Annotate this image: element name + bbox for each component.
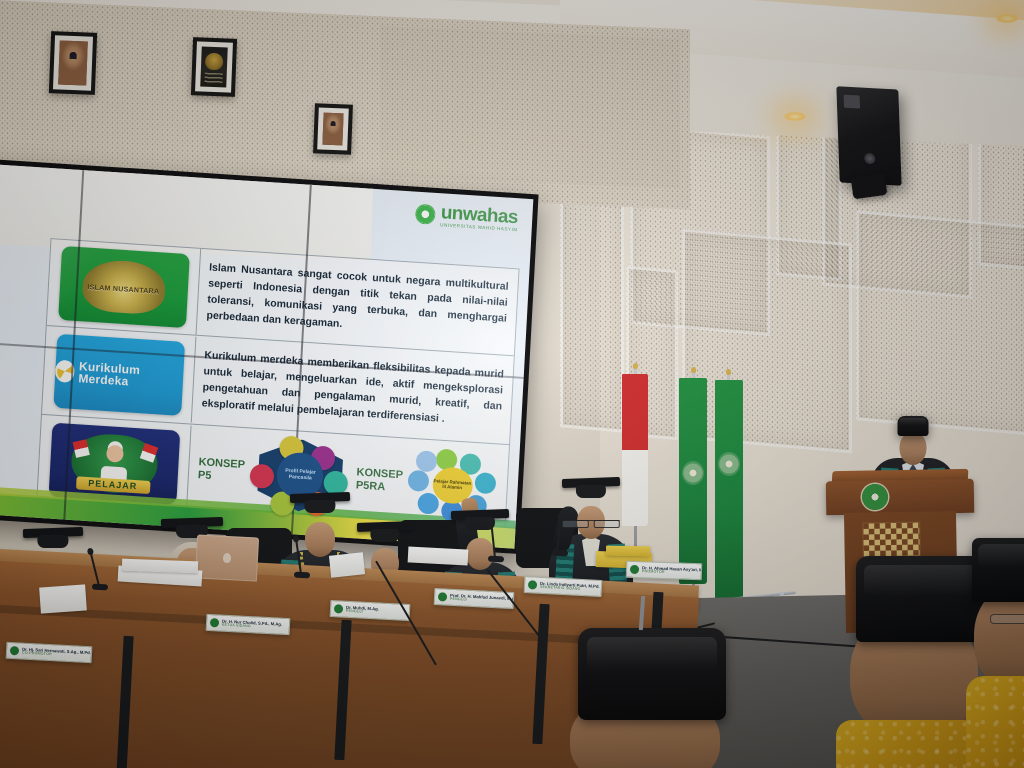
student-face-icon: [106, 445, 124, 463]
speaker-bracket: [851, 173, 888, 200]
nameplate-seal-icon: [10, 646, 19, 655]
unwahas-logo: unwahas UNIVERSITAS WAHID HASYIM: [415, 202, 519, 233]
presidential-portrait-icon: [58, 40, 88, 85]
speaker-head: [900, 432, 927, 465]
vice-presidential-portrait-icon: [322, 113, 343, 146]
vice-presidential-portrait-frame: [313, 103, 353, 154]
mortarboard-crown: [37, 535, 68, 548]
mortarboard-crown: [370, 529, 399, 542]
nameplate-text: Dr. Muhdi, M.Ag. PENGUJI: [346, 605, 379, 615]
speaker-badge: [844, 95, 860, 109]
nameplate-text: Dr. Linda Indiyarti Putri, M.Pd. SEKRETA…: [540, 581, 600, 592]
microphone-base: [294, 572, 310, 579]
row-text: Islam Nusantara sangat cocok untuk negar…: [206, 261, 509, 343]
mortarboard-cap: [451, 510, 509, 535]
eyeglasses-icon: [990, 614, 1024, 624]
garuda-emblem-frame: [191, 37, 237, 97]
audience-peci-icon: [972, 538, 1024, 602]
open-book: [408, 546, 469, 565]
microphone-base: [552, 550, 568, 557]
ceiling-downlight: [996, 14, 1018, 23]
wall-speaker-icon: [836, 86, 901, 185]
acoustic-panel: [682, 229, 852, 454]
pelajar-ribbon-label: PELAJAR: [76, 476, 151, 494]
mortarboard-cap: [562, 478, 620, 503]
mortarboard-crown: [304, 500, 335, 513]
unwahas-wordmark: unwahas UNIVERSITAS WAHID HASYIM: [440, 203, 519, 233]
audience-peci-icon: [578, 628, 726, 720]
indonesia-flag-icon: [139, 443, 157, 463]
nameplate-seal-icon: [334, 604, 343, 613]
table-cell-image: Kurikulum Merdeka: [42, 327, 196, 423]
audience-front-left: [560, 612, 760, 768]
upper-wall-band-2: [380, 26, 680, 189]
pelajar-crest-icon: PELAJAR: [69, 432, 158, 495]
nameplate-text: Dr. H. Nur Cholid, S.Pd., M.Ag. KETUA SI…: [222, 619, 282, 630]
podium-top: [826, 479, 975, 516]
nu-emblem-icon: [682, 461, 704, 485]
speaker-woofer: [864, 153, 875, 165]
ceiling-downlight: [784, 112, 806, 121]
document-sheet: [39, 584, 87, 613]
video-wall-display: akang kuat at osial, an at. ng -nilai un…: [0, 150, 539, 554]
p5ra-node: [407, 469, 429, 491]
konsep-p5-label: KONSEP P5: [198, 456, 246, 484]
presidential-portrait-frame: [49, 31, 97, 95]
panelist-head: [466, 538, 494, 570]
unwahas-mark-icon: [415, 204, 436, 225]
nameplate-seal-icon: [630, 565, 639, 574]
microphone-base: [92, 584, 108, 591]
nameplate-text: Prof. Dr. H. Mahfud Junaedi, M.Ag. PENGU…: [450, 593, 515, 604]
p5ra-node: [415, 450, 437, 472]
nameplate-seal-icon: [210, 618, 219, 627]
acoustic-panel: [856, 210, 1024, 436]
p5ra-node: [474, 472, 496, 494]
photo-scene: akang kuat at osial, an at. ng -nilai un…: [0, 0, 1024, 768]
panelist-head: [305, 522, 335, 557]
audience-batik-garment: [966, 676, 1024, 768]
nameplate: Dr. H. Ahmad Hasan Asy'ari, M.Ag. PROMOT…: [626, 561, 703, 581]
microphone-base: [488, 556, 504, 563]
indonesia-flag-icon: [72, 439, 89, 458]
laptop-logo-icon: [223, 553, 232, 563]
mortarboard-crown: [576, 485, 606, 498]
eyeglasses-icon: [562, 520, 620, 526]
nameplate-seal-icon: [438, 592, 447, 601]
audience-peci-icon: [856, 556, 984, 642]
mortarboard-cap: [290, 493, 350, 519]
document-sheet: [329, 552, 365, 577]
kurikulum-merdeka-label: Kurikulum Merdeka: [78, 360, 183, 391]
nameplate-seal-icon: [528, 580, 537, 589]
laptop: [195, 534, 259, 581]
speaker-peci-icon: [898, 416, 929, 436]
nameplate-text: Dr. Hj. Sari Hernawati, S.Ag., M.Pd. CO-…: [22, 647, 91, 658]
university-green-flag: [715, 380, 743, 602]
projected-slide: akang kuat at osial, an at. ng -nilai un…: [0, 155, 533, 548]
garuda-pancasila-emblem-icon: [200, 47, 228, 88]
university-emblem-icon: [718, 452, 740, 476]
acoustic-panel: [560, 167, 624, 433]
nameplate-text: Dr. H. Ahmad Hasan Asy'ari, M.Ag. PROMOT…: [642, 566, 702, 576]
mortarboard-cap: [357, 522, 413, 546]
slide-table: ISLAM NUSANTARA Islam Nusantara sangat c…: [36, 238, 519, 533]
table-cell-text: Islam Nusantara sangat cocok untuk negar…: [197, 254, 518, 349]
audience-far-right: [966, 534, 1024, 768]
nu-green-flag: [679, 378, 707, 584]
table-cell-text: Kurikulum merdeka memberikan fleksibilit…: [192, 342, 513, 437]
table-cell-image: ISLAM NUSANTARA: [47, 239, 201, 335]
yellow-folder: [606, 546, 650, 557]
row-text: Kurikulum merdeka memberikan fleksibilit…: [201, 349, 504, 431]
